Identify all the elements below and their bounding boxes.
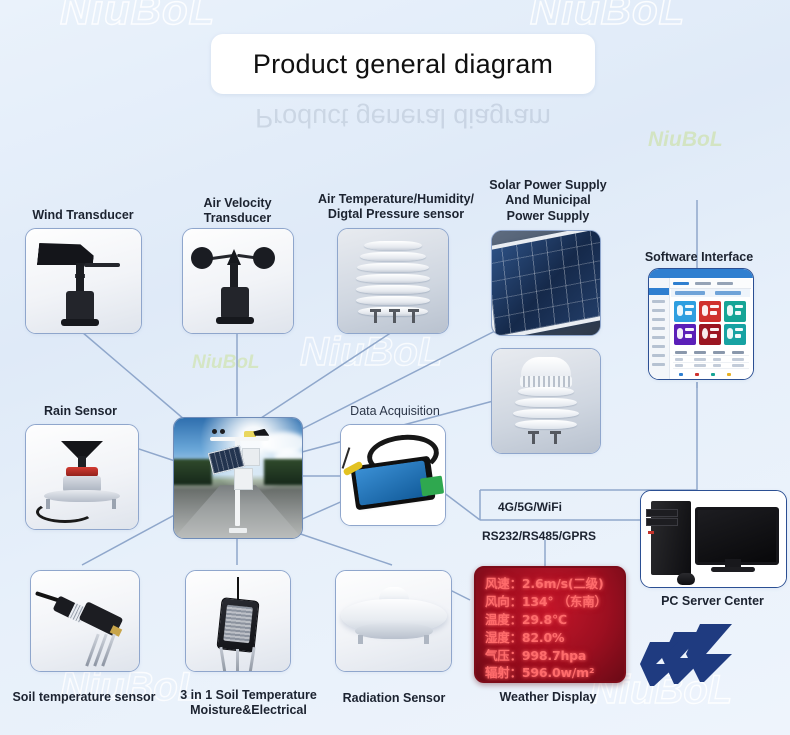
software-dashboard-preview bbox=[649, 269, 753, 379]
label-data-acquisition: Data Acquisition bbox=[330, 404, 460, 419]
label-software-interface: Software Interface bbox=[625, 250, 773, 265]
card-soil-3in1-sensor[interactable] bbox=[185, 570, 291, 672]
photo-air-velocity-transducer bbox=[183, 229, 293, 333]
photo-pc-server bbox=[641, 491, 786, 587]
label-air-temperature-humidity-pressure-sensor: Air Temperature/Humidity/Digtal Pressure… bbox=[306, 192, 486, 223]
label-wired-protocols: RS232/RS485/GPRS bbox=[482, 529, 596, 543]
card-air-temperature-humidity-pressure-sensor[interactable] bbox=[337, 228, 449, 334]
card-rain-sensor[interactable] bbox=[25, 424, 139, 530]
card-wind-transducer[interactable] bbox=[25, 228, 142, 334]
photo-rain-sensor bbox=[26, 425, 138, 529]
label-soil-3in1-sensor: 3 in 1 Soil TemperatureMoisture&Electric… bbox=[156, 688, 341, 719]
photo-data-acquisition bbox=[341, 425, 445, 525]
card-software-interface[interactable] bbox=[648, 268, 754, 380]
weather-row-wind-speed: 风速：2.6m/s(二级) bbox=[485, 573, 620, 592]
card-pc-server-center[interactable] bbox=[640, 490, 787, 588]
weather-row-wind-direction: 风向：134° （东南） bbox=[485, 591, 620, 610]
label-radiation-sensor: Radiation Sensor bbox=[330, 691, 458, 706]
navy-chevron-arrows bbox=[634, 620, 744, 690]
watermark-green-right: NiuBoL bbox=[648, 128, 723, 152]
photo-air-temperature-humidity-pressure-sensor bbox=[338, 229, 448, 333]
page-title: Product general diagram bbox=[253, 49, 553, 80]
photo-soil-3in1-sensor bbox=[186, 571, 290, 671]
weather-row-temperature: 温度：29.8℃ bbox=[485, 609, 620, 628]
dashboard-menubar bbox=[669, 279, 751, 289]
dashboard-tile[interactable] bbox=[724, 301, 746, 322]
label-wireless-protocols: 4G/5G/WiFi bbox=[498, 500, 562, 514]
card-weather-display[interactable]: 风速：2.6m/s(二级) 风向：134° （东南） 温度：29.8℃ 湿度：8… bbox=[474, 566, 626, 683]
dashboard-tile[interactable] bbox=[699, 301, 721, 322]
card-soil-temperature-sensor[interactable] bbox=[30, 570, 140, 672]
label-air-velocity-transducer: Air VelocityTransducer bbox=[165, 196, 310, 227]
label-wind-transducer: Wind Transducer bbox=[8, 208, 158, 223]
card-air-velocity-transducer[interactable] bbox=[182, 228, 294, 334]
photo-weather-station bbox=[174, 418, 302, 538]
card-data-acquisition[interactable] bbox=[340, 424, 446, 526]
watermark-top-left: NiuBoL bbox=[60, 0, 215, 34]
dashboard-tile[interactable] bbox=[699, 324, 721, 345]
label-pc-server-center: PC Server Center bbox=[640, 594, 785, 609]
dashboard-tile[interactable] bbox=[724, 324, 746, 345]
diagram-canvas: NiuBoL NiuBoL NiuBoL NiuBoL NiuBoL NiuBo… bbox=[0, 0, 790, 735]
weather-row-radiation: 辐射：596.0w/m² bbox=[485, 662, 620, 681]
watermark-green-bottom: NiuBoL bbox=[192, 352, 260, 374]
card-radiation-sensor[interactable] bbox=[335, 570, 452, 672]
card-solar-power-supply[interactable] bbox=[491, 230, 601, 336]
dashboard-tile[interactable] bbox=[674, 301, 696, 322]
page-title-reflection: Product general diagram bbox=[211, 96, 595, 140]
watermark-center: NiuBoL bbox=[300, 330, 442, 375]
dashboard-legend bbox=[673, 373, 749, 377]
dashboard-topbar bbox=[649, 269, 753, 278]
card-central-weather-station[interactable] bbox=[173, 417, 303, 539]
dashboard-tile[interactable] bbox=[674, 324, 696, 345]
dashboard-tabs bbox=[671, 289, 750, 297]
label-solar-power-supply: Solar Power SupplyAnd MunicipalPower Sup… bbox=[472, 178, 624, 224]
page-title-card: Product general diagram bbox=[211, 34, 595, 94]
dashboard-sidebar bbox=[649, 278, 670, 379]
photo-soil-temperature-sensor bbox=[31, 571, 139, 671]
watermark-top-right: NiuBoL bbox=[530, 0, 685, 34]
photo-wind-transducer bbox=[26, 229, 141, 333]
label-weather-display: Weather Display bbox=[474, 690, 622, 705]
label-rain-sensor: Rain Sensor bbox=[8, 404, 153, 419]
card-compact-weather-sensor[interactable] bbox=[491, 348, 601, 454]
label-soil-temperature-sensor: Soil temperature sensor bbox=[4, 690, 164, 705]
weather-row-humidity: 湿度：82.0% bbox=[485, 627, 620, 646]
photo-solar-panel bbox=[492, 231, 600, 335]
photo-compact-weather-sensor bbox=[492, 349, 600, 453]
photo-radiation-sensor bbox=[336, 571, 451, 671]
